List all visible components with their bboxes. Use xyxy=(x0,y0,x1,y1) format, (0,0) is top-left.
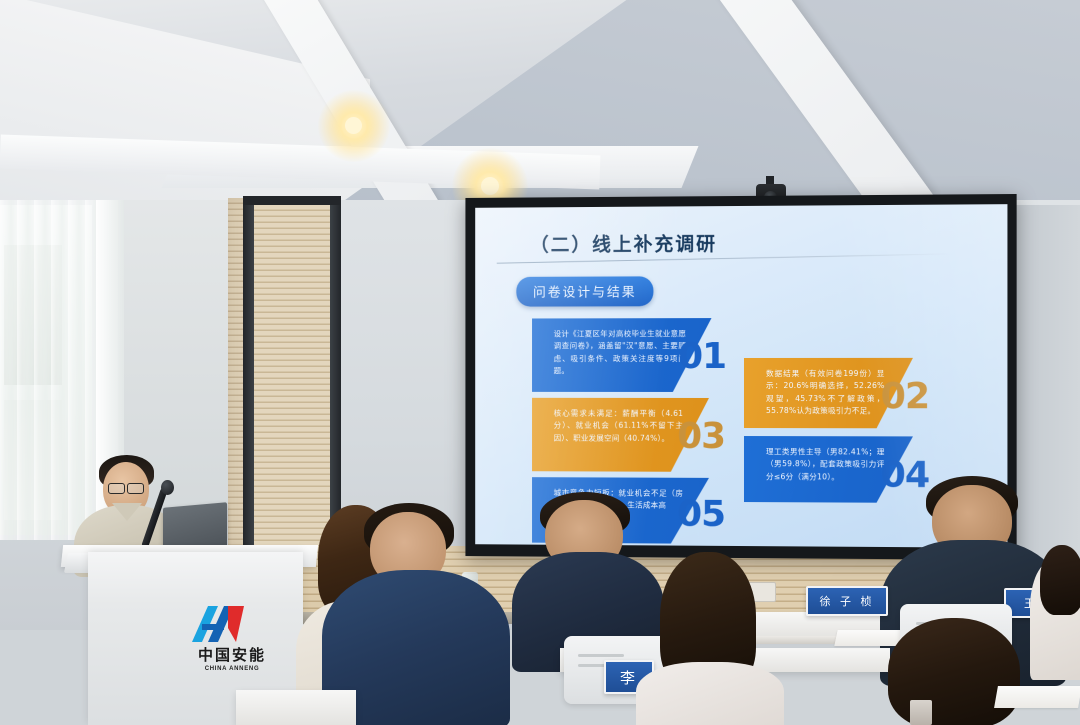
wood-panel-frame-top xyxy=(243,196,341,205)
microphone-icon xyxy=(161,480,174,495)
desk-papers-foreground xyxy=(994,686,1080,708)
slide-box-01-number: 01 xyxy=(678,336,726,377)
podium-logo: 中国安能 CHINA ANNENG xyxy=(186,604,278,682)
chair-center-slot-1 xyxy=(578,654,624,657)
desk-foreground-left xyxy=(236,690,356,725)
attendee-front-right-body xyxy=(636,662,784,725)
slide-box-03-text: 核心需求未满足：薪酬平衡（4.61分）、就业机会（61.11%不留下主因）、职业… xyxy=(554,409,684,443)
slide-box-02-text: 数据结果（有效问卷199份）显示：20.6%明确选择，52.26%观望，45.7… xyxy=(766,369,885,415)
nameplate-xu-zizhen: 徐 子 桢 xyxy=(806,586,888,616)
slide-box-01-text: 设计《江夏区年对高校毕业生就业意愿调查问卷》，涵盖留"汉"意愿、主要顾虑、吸引条… xyxy=(554,329,687,375)
ceiling xyxy=(0,0,1080,215)
wood-panel-frame-right xyxy=(330,196,341,551)
ceiling-spotlight-1-core xyxy=(481,177,499,195)
anneng-logo-icon xyxy=(188,604,276,644)
right-wall-section xyxy=(1012,205,1080,605)
slide-box-05-number: 05 xyxy=(677,494,725,535)
conference-room-photo: （二）线上补充调研 问卷设计与结果 设计《江夏区年对高校毕业生就业意愿调查问卷》… xyxy=(0,0,1080,725)
ceiling-spotlight-2-core xyxy=(345,117,362,134)
attendee-right-foreground-hair xyxy=(888,618,1020,725)
wood-slat-panel-inner xyxy=(252,205,330,545)
slide-section-badge: 问卷设计与结果 xyxy=(516,276,653,306)
attendee-far-right-hair xyxy=(1040,545,1080,615)
slide-box-03-number: 03 xyxy=(677,416,725,457)
slide-box-02-number: 02 xyxy=(881,376,930,417)
podium-logo-cn: 中国安能 xyxy=(186,644,278,665)
podium-logo-en: CHINA ANNENG xyxy=(186,666,278,672)
slide-title: （二）线上补充调研 xyxy=(530,229,717,257)
slide-box-04-number: 04 xyxy=(881,454,930,495)
wood-panel-frame-left xyxy=(243,196,254,551)
desk-cup xyxy=(910,700,932,725)
slide-box-04-text: 理工类男性主导（男82.41%；理（男59.8%），配套政策吸引力评分≤6分（满… xyxy=(766,447,885,481)
presenter-glasses-icon xyxy=(108,483,144,492)
